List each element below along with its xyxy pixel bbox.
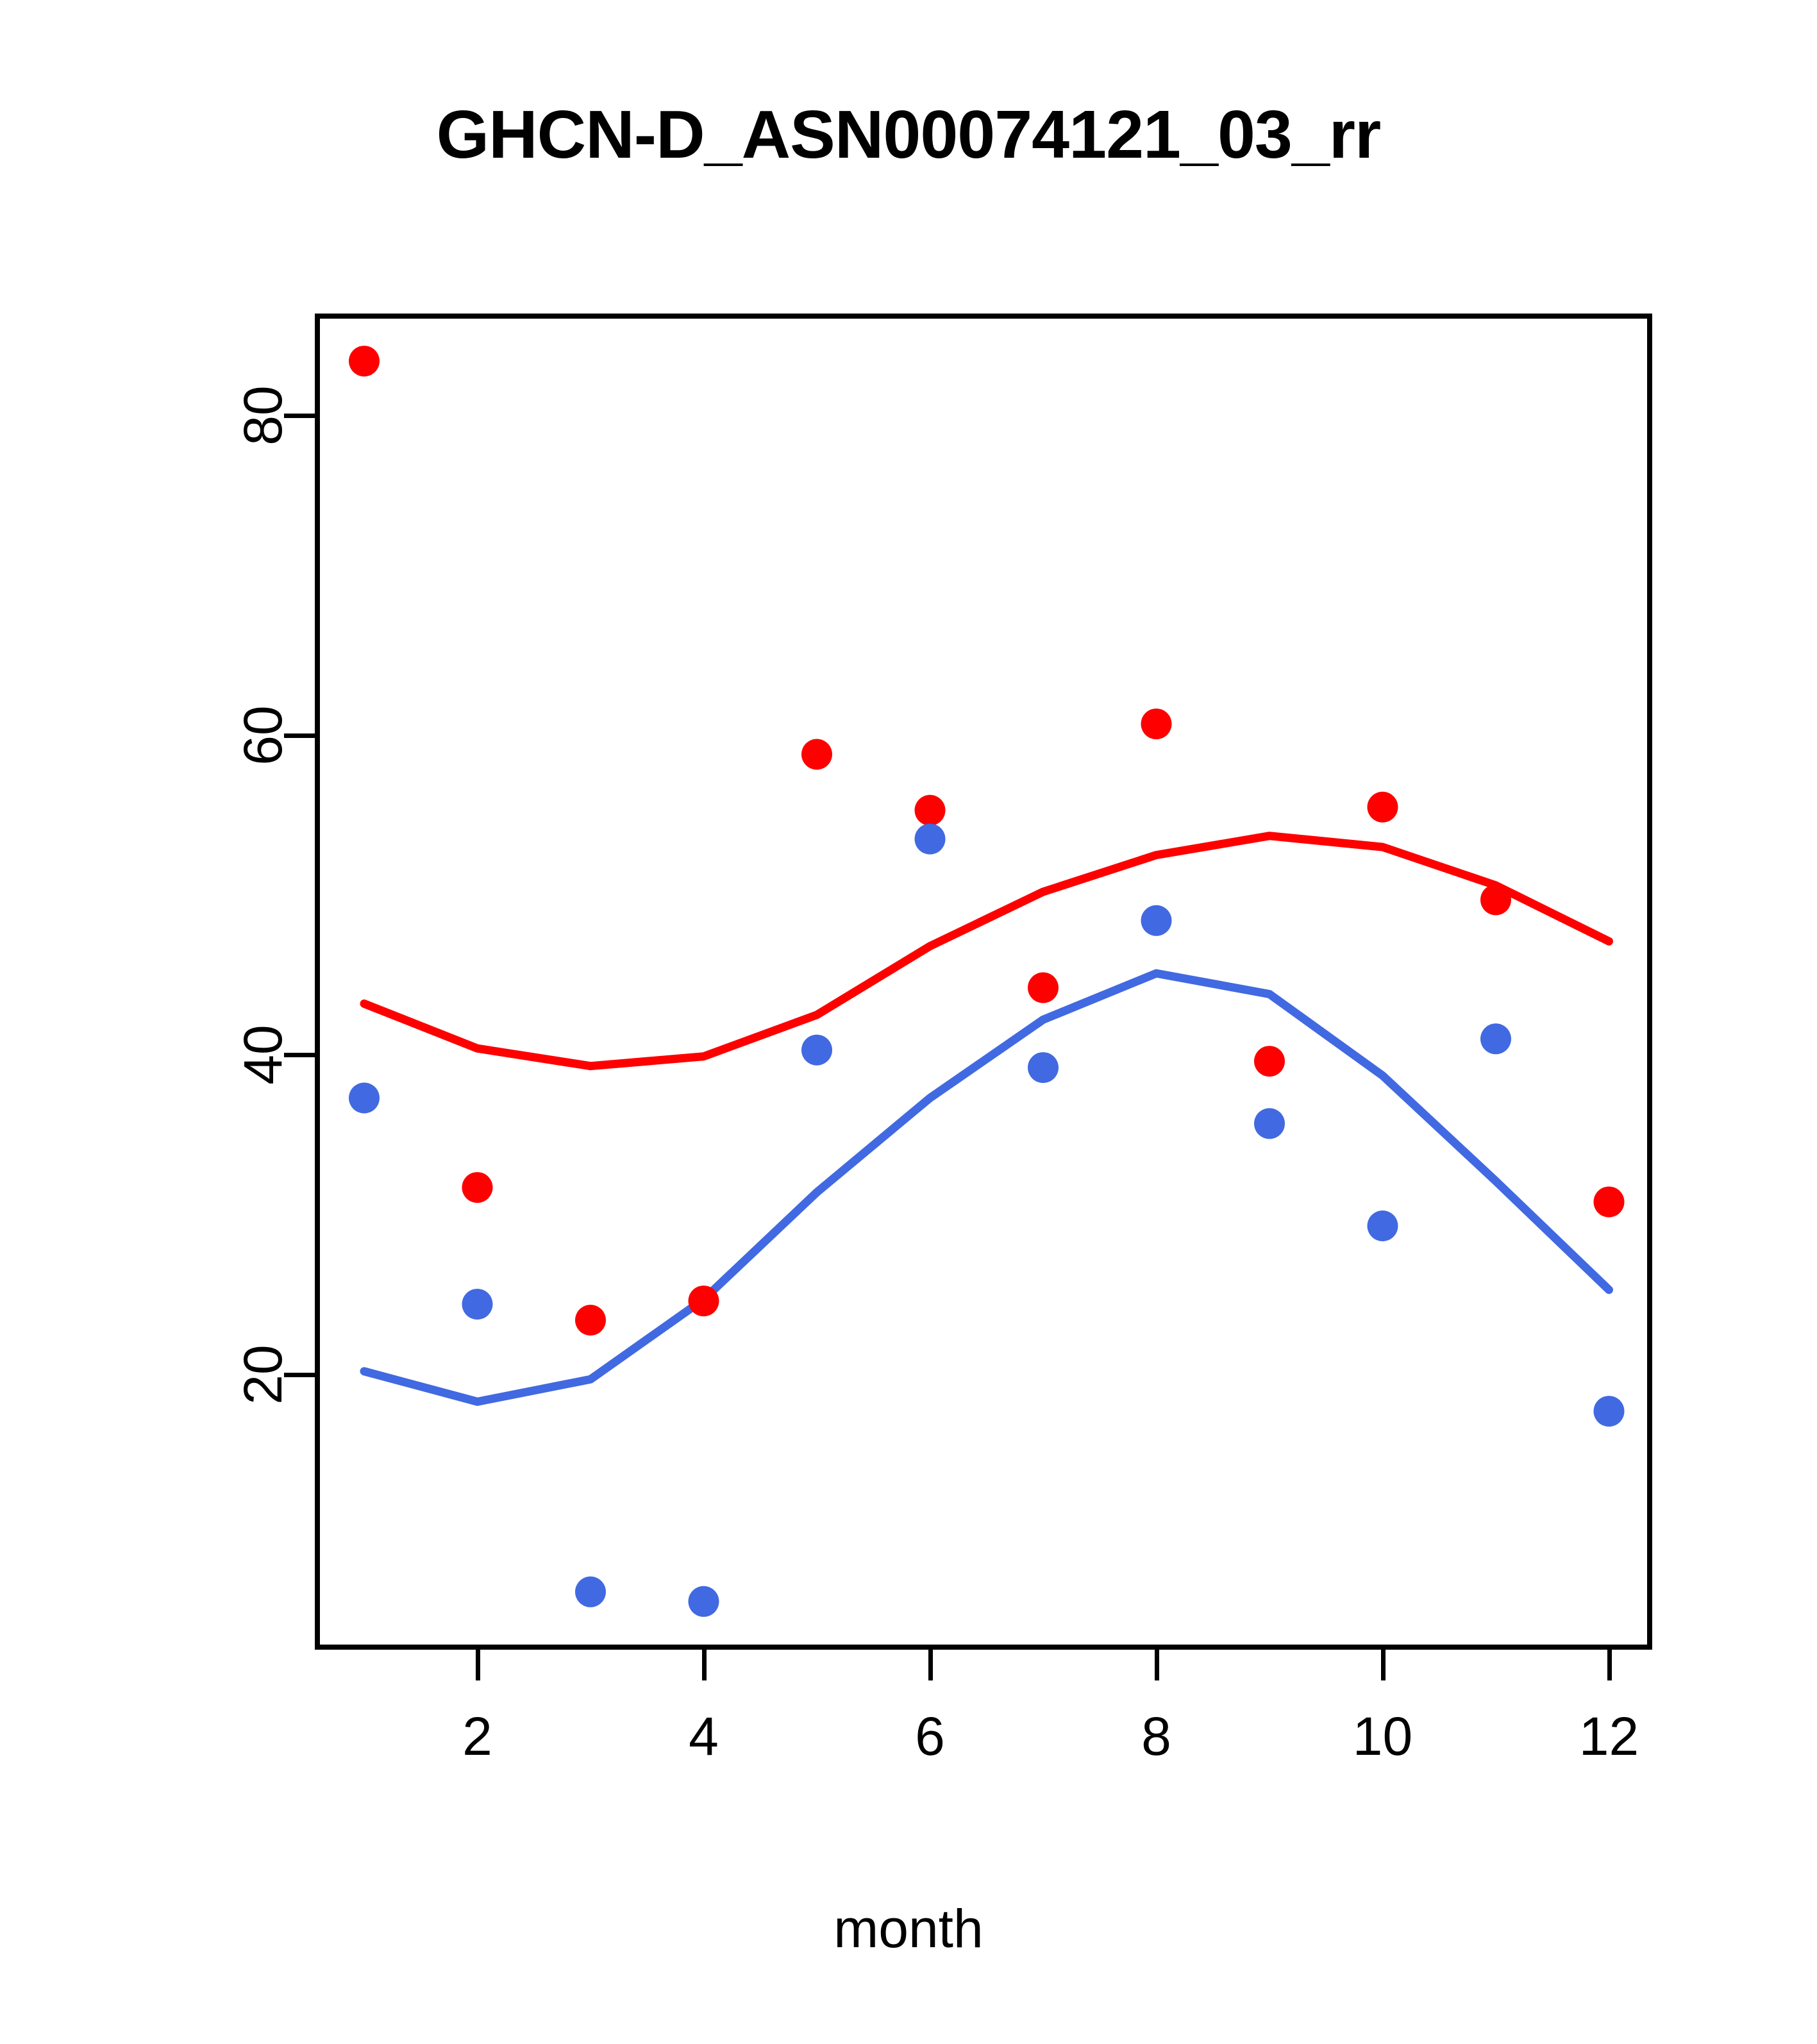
data-point	[1480, 1023, 1511, 1054]
data-point	[575, 1577, 606, 1607]
data-point	[462, 1289, 493, 1319]
plot-canvas	[315, 314, 1652, 1650]
data-point	[801, 1035, 832, 1066]
data-point	[1141, 708, 1172, 739]
x-axis-tick	[476, 1650, 480, 1680]
data-point	[1141, 905, 1172, 936]
y-axis-tick-label-text: 60	[232, 705, 294, 765]
data-point	[1368, 1210, 1398, 1241]
data-point	[801, 739, 832, 770]
y-axis-tick-label-text: 20	[232, 1345, 294, 1404]
x-axis-title: month	[0, 1898, 1817, 1960]
x-axis-tick-label: 6	[915, 1705, 945, 1768]
x-axis-tick	[702, 1650, 707, 1680]
data-point	[349, 1083, 380, 1114]
x-axis-tick-label: 2	[462, 1705, 492, 1768]
x-axis-tick-label: 10	[1353, 1705, 1412, 1768]
data-point	[1480, 884, 1511, 915]
x-axis-tick-label: 8	[1141, 1705, 1171, 1768]
data-point	[1594, 1187, 1625, 1218]
data-point	[1254, 1108, 1285, 1139]
x-axis-tick-label: 12	[1579, 1705, 1639, 1768]
data-point	[462, 1172, 493, 1203]
y-axis-tick-label-text: 80	[232, 385, 294, 445]
data-point	[575, 1305, 606, 1336]
x-axis-tick	[1381, 1650, 1386, 1680]
data-point	[915, 795, 946, 826]
data-point	[349, 346, 380, 376]
data-point	[1368, 792, 1398, 823]
data-point	[1254, 1046, 1285, 1076]
data-point	[1028, 1052, 1059, 1083]
x-axis-tick	[928, 1650, 933, 1680]
y-axis-tick-label-text: 40	[232, 1025, 294, 1084]
x-axis-tick-label: 4	[689, 1705, 719, 1768]
data-point	[689, 1586, 719, 1617]
red-trend-line	[364, 836, 1609, 1066]
data-point	[915, 824, 946, 855]
data-point	[1028, 973, 1059, 1003]
data-point	[1594, 1396, 1625, 1427]
chart-page: GHCN-D_ASN00074121_03_rr 20406080 246810…	[0, 0, 1817, 2044]
x-axis-tick	[1607, 1650, 1612, 1680]
x-axis-tick	[1155, 1650, 1159, 1680]
blue-trend-line	[364, 973, 1609, 1402]
data-point	[689, 1286, 719, 1316]
page-title: GHCN-D_ASN00074121_03_rr	[0, 96, 1817, 174]
